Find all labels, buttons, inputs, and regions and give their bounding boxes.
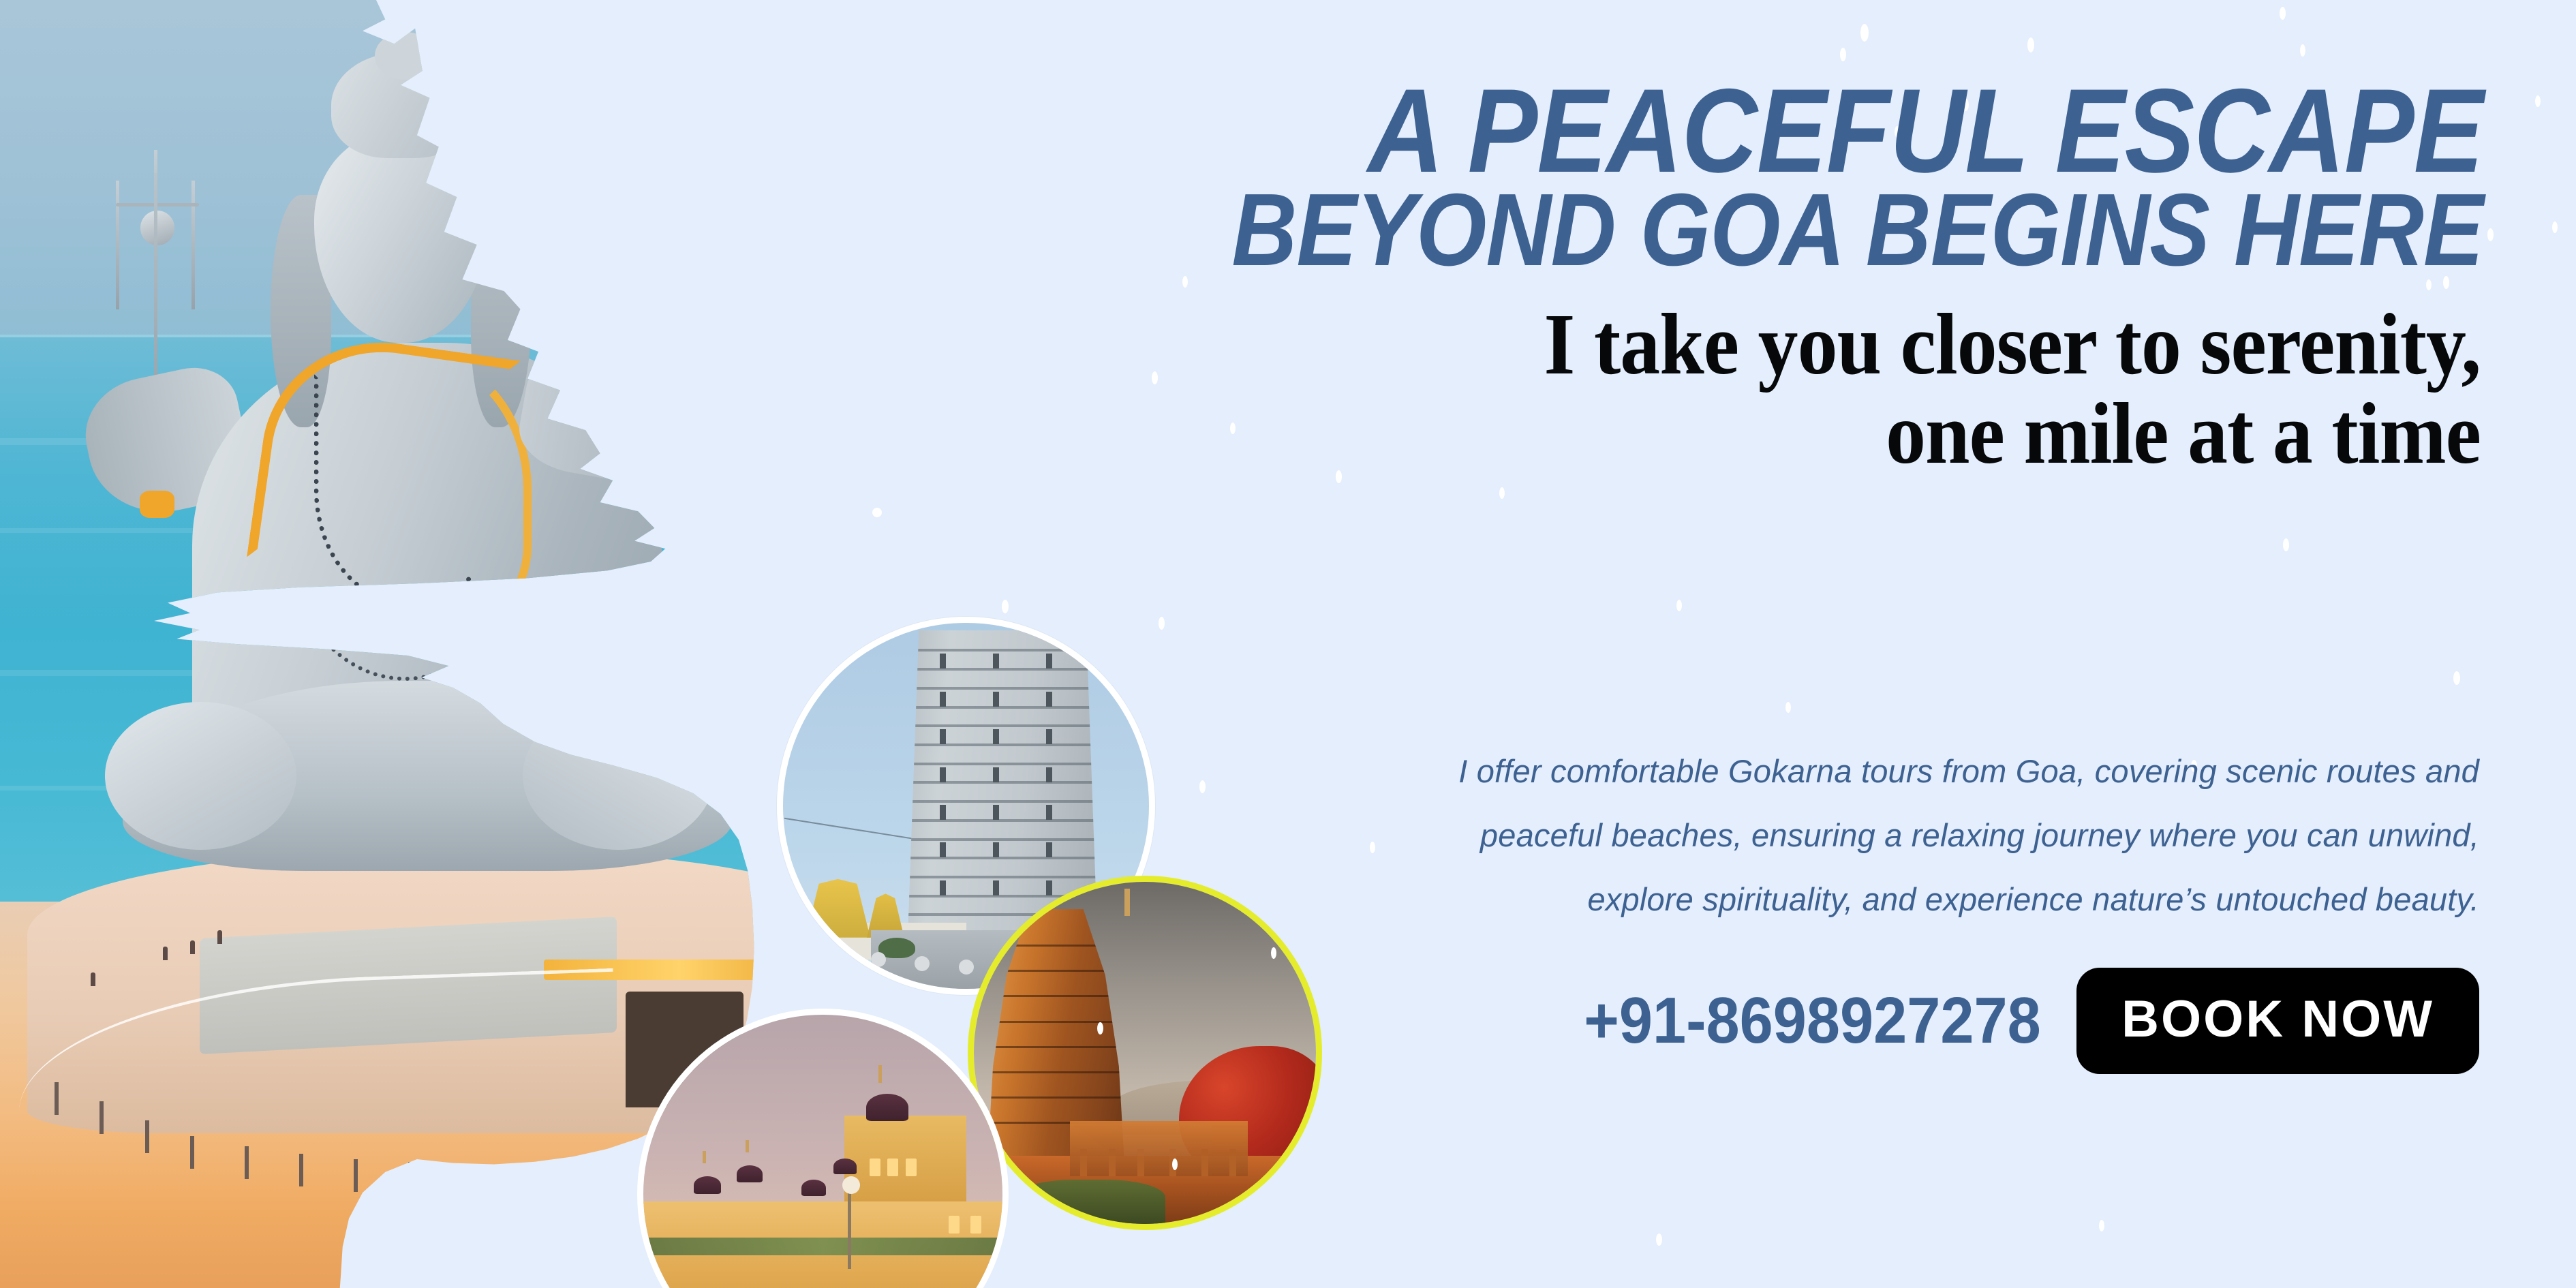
palace-window [949,1216,960,1233]
boundary-orb [959,960,974,975]
rail-post [190,1136,194,1169]
dome-finial [703,1151,706,1163]
palace-green-frieze [643,1238,1002,1255]
rail-post [354,1159,358,1192]
statue-head [314,132,488,343]
tagline: I take you closer to serenity, one mile … [1208,300,2481,478]
palace-window [906,1159,917,1176]
promotional-banner: A PEACEFUL ESCAPE BEYOND GOA BEGINS HERE… [0,0,2576,1288]
boundary-orb [871,952,886,967]
statue-bangle [140,491,174,518]
body-copy-line-3: explore spirituality, and experience nat… [1123,868,2479,932]
palace-dome [694,1176,721,1194]
rail-post [145,1120,149,1153]
tagline-line-1: I take you closer to serenity, [1208,300,2481,389]
palace-window [970,1216,981,1233]
cta-row: +91-8698927278 BOOK NOW [1123,968,2479,1074]
palace-dome [801,1180,826,1196]
dome-finial [746,1140,749,1152]
boundary-orb [915,956,930,971]
rail-post [99,1101,104,1134]
mysore-palace-circle [637,1009,1009,1288]
statue-bead-mala [288,406,523,681]
statue-knee [105,702,296,850]
phone-number[interactable]: +91-8698927278 [1584,983,2041,1058]
statue-knee [523,702,714,850]
body-copy: I offer comfortable Gokarna tours from G… [1123,739,2479,932]
sparkle-speck [872,508,882,517]
sparkle-speck [1002,600,1009,613]
boundary-orb [834,945,849,960]
shiva-statue [18,26,889,1082]
sparkle-speck [2535,95,2541,107]
damaru-drum-icon [649,310,762,427]
palace-dome [866,1094,908,1121]
palace-window [870,1159,880,1176]
body-copy-line-2: peaceful beaches, ensuring a relaxing jo… [1123,803,2479,868]
palace-window [887,1159,898,1176]
dome-finial [878,1065,882,1083]
sparkle-speck [2487,228,2494,241]
banner-content: A PEACEFUL ESCAPE BEYOND GOA BEGINS HERE… [1104,0,2487,1288]
book-now-button[interactable]: BOOK NOW [2076,968,2479,1074]
body-copy-line-1: I offer comfortable Gokarna tours from G… [1123,739,2479,803]
headline-line-1: A PEACEFUL ESCAPE [1368,76,2483,186]
headline-line-2: BEYOND GOA BEGINS HERE [1232,183,2483,277]
palace-dome [737,1165,763,1182]
statue-topknot [375,32,435,80]
street-lamp-post [848,1187,851,1269]
rail-post [408,1162,412,1195]
rail-post [299,1154,303,1186]
palace-dome [833,1159,857,1174]
statue-bangle [627,448,662,476]
tagline-line-2: one mile at a time [1208,389,2481,478]
rail-post [55,1082,59,1115]
rail-post [245,1146,249,1179]
sparkle-speck [2552,221,2558,233]
